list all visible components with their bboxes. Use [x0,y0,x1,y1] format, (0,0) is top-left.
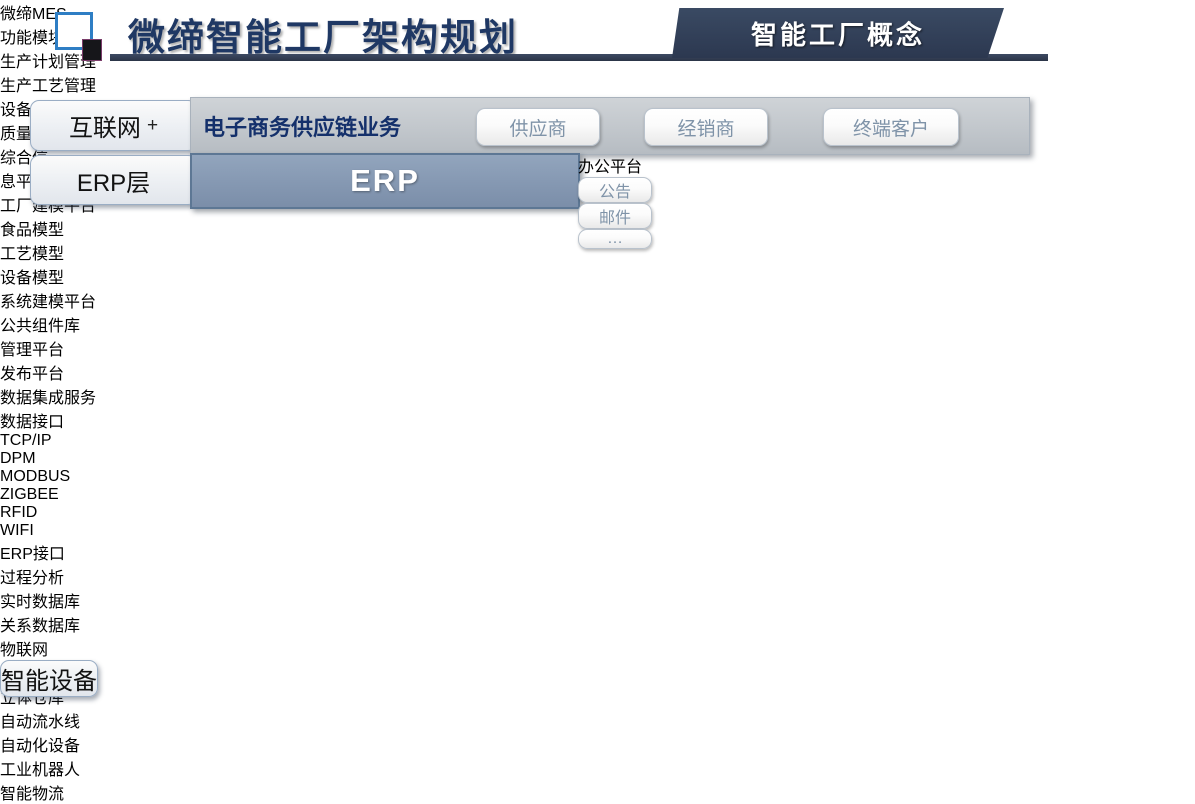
button-publish-platform[interactable]: 发布平台 [0,360,126,384]
connector-erp-interface[interactable]: ERP接口 [0,540,180,564]
ecommerce-band: 电子商务供应链业务 供应商 经销商 终端客户 [190,97,1030,155]
smart-logistics-label: 智能物流 [0,786,64,803]
connector-realtime-database[interactable]: 实时数据库 [0,588,180,612]
ecommerce-title: 电子商务供应链业务 [203,104,401,148]
iot-label: 物联网 [0,642,48,659]
protocol-dpm[interactable]: DPM [0,450,90,468]
plus-sign: + [147,115,158,137]
protocol-wifi[interactable]: WIFI [0,522,90,540]
smart-logistics-block: 智能物流 [0,780,1195,804]
protocol-modbus[interactable]: MODBUS [0,468,126,486]
button-equipment-model[interactable]: 设备模型 [0,264,132,288]
page-title: 微缔智能工厂架构规划 [128,7,518,61]
logo-filled-square [82,39,102,61]
protocol-zigbee[interactable]: ZIGBEE [0,486,116,504]
button-mail[interactable]: 邮件 [578,203,652,229]
protocol-tcpip[interactable]: TCP/IP [0,432,124,450]
row-label-smart-devices: 智能设备 [0,660,98,697]
button-industrial-robot[interactable]: 工业机器人 [0,756,160,780]
protocol-rfid[interactable]: RFID [0,504,86,522]
button-automatic-assembly-line[interactable]: 自动流水线 [0,708,150,732]
tab-label: 智能工厂概念 [672,8,1004,58]
button-automation-equipment[interactable]: 自动化设备 [0,732,148,756]
connector-process-analysis[interactable]: 过程分析 [0,564,180,588]
button-more[interactable]: … [578,229,652,249]
button-distributor[interactable]: 经销商 [644,108,768,146]
smart-devices-bar: AGV小车 立体仓库 自动流水线 自动化设备 工业机器人 [0,660,1195,780]
row-label-internet: 互联网 + [30,100,197,151]
button-process-model[interactable]: 工艺模型 [0,240,132,264]
button-production-process-mgmt[interactable]: 生产工艺管理 [0,72,230,96]
button-end-customer[interactable]: 终端客户 [823,108,959,146]
square-logo-icon [55,12,101,52]
tab-smart-factory-concept[interactable]: 智能工厂概念 [672,8,1004,58]
office-platform-title: 办公平台 [578,153,1028,177]
row-label-internet-text: 互联网 [69,108,141,143]
iot-panel: 物联网 [0,636,1195,660]
data-interface-label: 数据接口 [0,408,1195,432]
row-label-erp-text: ERP层 [77,163,150,198]
connector-relational-database[interactable]: 关系数据库 [0,612,180,636]
button-management-platform[interactable]: 管理平台 [0,336,126,360]
button-data-integration-service[interactable]: 数据集成服务 [0,384,466,408]
office-platform-bar: 办公平台 公告 邮件 … [578,153,1028,205]
erp-bar: ERP [190,153,580,209]
row-label-erp: ERP层 [30,155,197,205]
diagram-canvas: 微缔智能工厂架构规划 智能工厂概念 互联网 + 电子商务供应链业务 供应商 经销… [0,0,1195,714]
button-supplier[interactable]: 供应商 [476,108,600,146]
erp-bar-label: ERP [350,163,420,199]
button-food-model[interactable]: 食品模型 [0,216,138,240]
button-announcement[interactable]: 公告 [578,177,652,203]
system-modeling-label: 系统建模平台 [0,288,1195,312]
row-label-smart-devices-text: 智能设备 [1,661,97,696]
button-common-component-library[interactable]: 公共组件库 [0,312,154,336]
